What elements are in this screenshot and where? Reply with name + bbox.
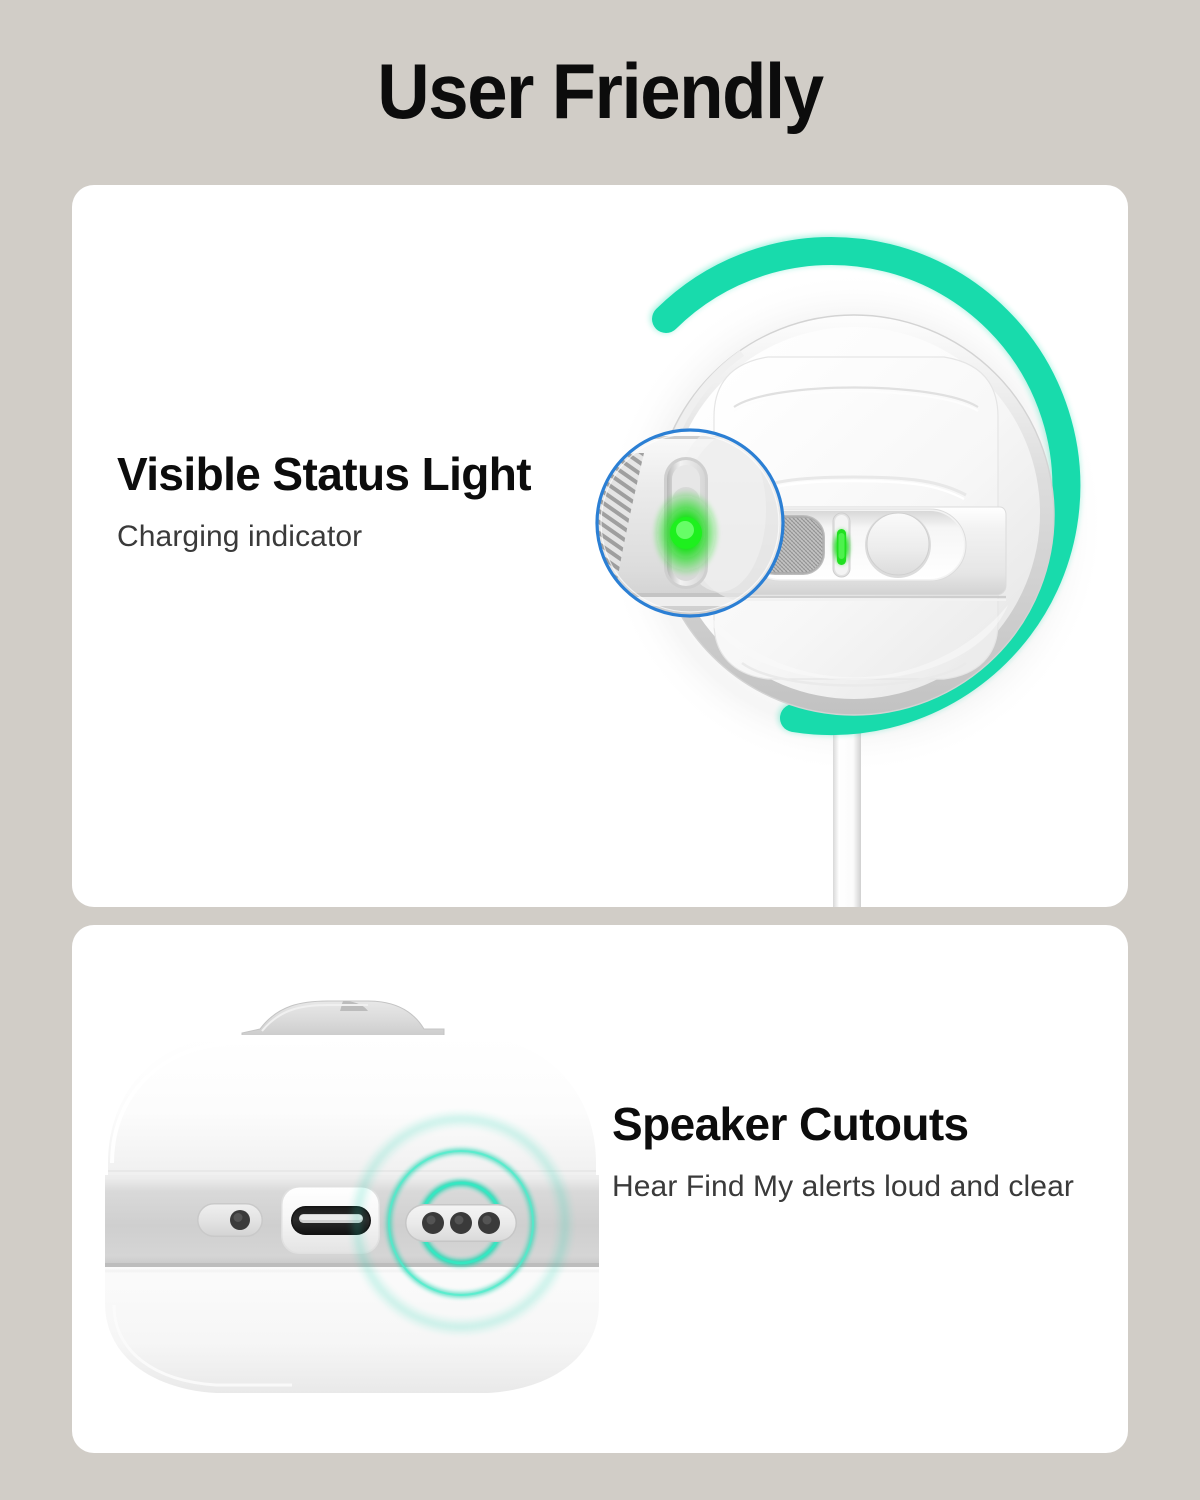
feature-title-visible-status-light: Visible Status Light <box>117 450 531 498</box>
charging-case-top-illustration <box>592 185 1128 907</box>
lanyard-clip <box>242 1001 444 1039</box>
speaker-cutout-holes <box>405 1204 517 1242</box>
page-title: User Friendly <box>42 52 1158 130</box>
case-body-lower <box>105 1267 599 1393</box>
feature-title-speaker-cutouts: Speaker Cutouts <box>612 1100 1102 1148</box>
feature-subtitle-speaker-cutouts: Hear Find My alerts loud and clear <box>612 1170 1102 1204</box>
feature-text-speaker-cutouts: Speaker Cutouts Hear Find My alerts loud… <box>612 1100 1102 1204</box>
feature-subtitle-visible-status-light: Charging indicator <box>117 520 531 554</box>
side-button <box>865 512 931 578</box>
usb-c-port <box>281 1186 380 1254</box>
feature-card-visible-status-light: Visible Status Light Charging indicator <box>72 185 1128 907</box>
case-body-upper <box>108 1035 596 1175</box>
feature-text-visible-status-light: Visible Status Light Charging indicator <box>117 450 531 554</box>
infographic-page: User Friendly <box>0 0 1200 1500</box>
microphone-hole <box>197 1203 263 1237</box>
charging-case-bottom-illustration <box>92 985 612 1405</box>
feature-card-speaker-cutouts: Speaker Cutouts Hear Find My alerts loud… <box>72 925 1128 1453</box>
green-status-led <box>832 513 852 577</box>
